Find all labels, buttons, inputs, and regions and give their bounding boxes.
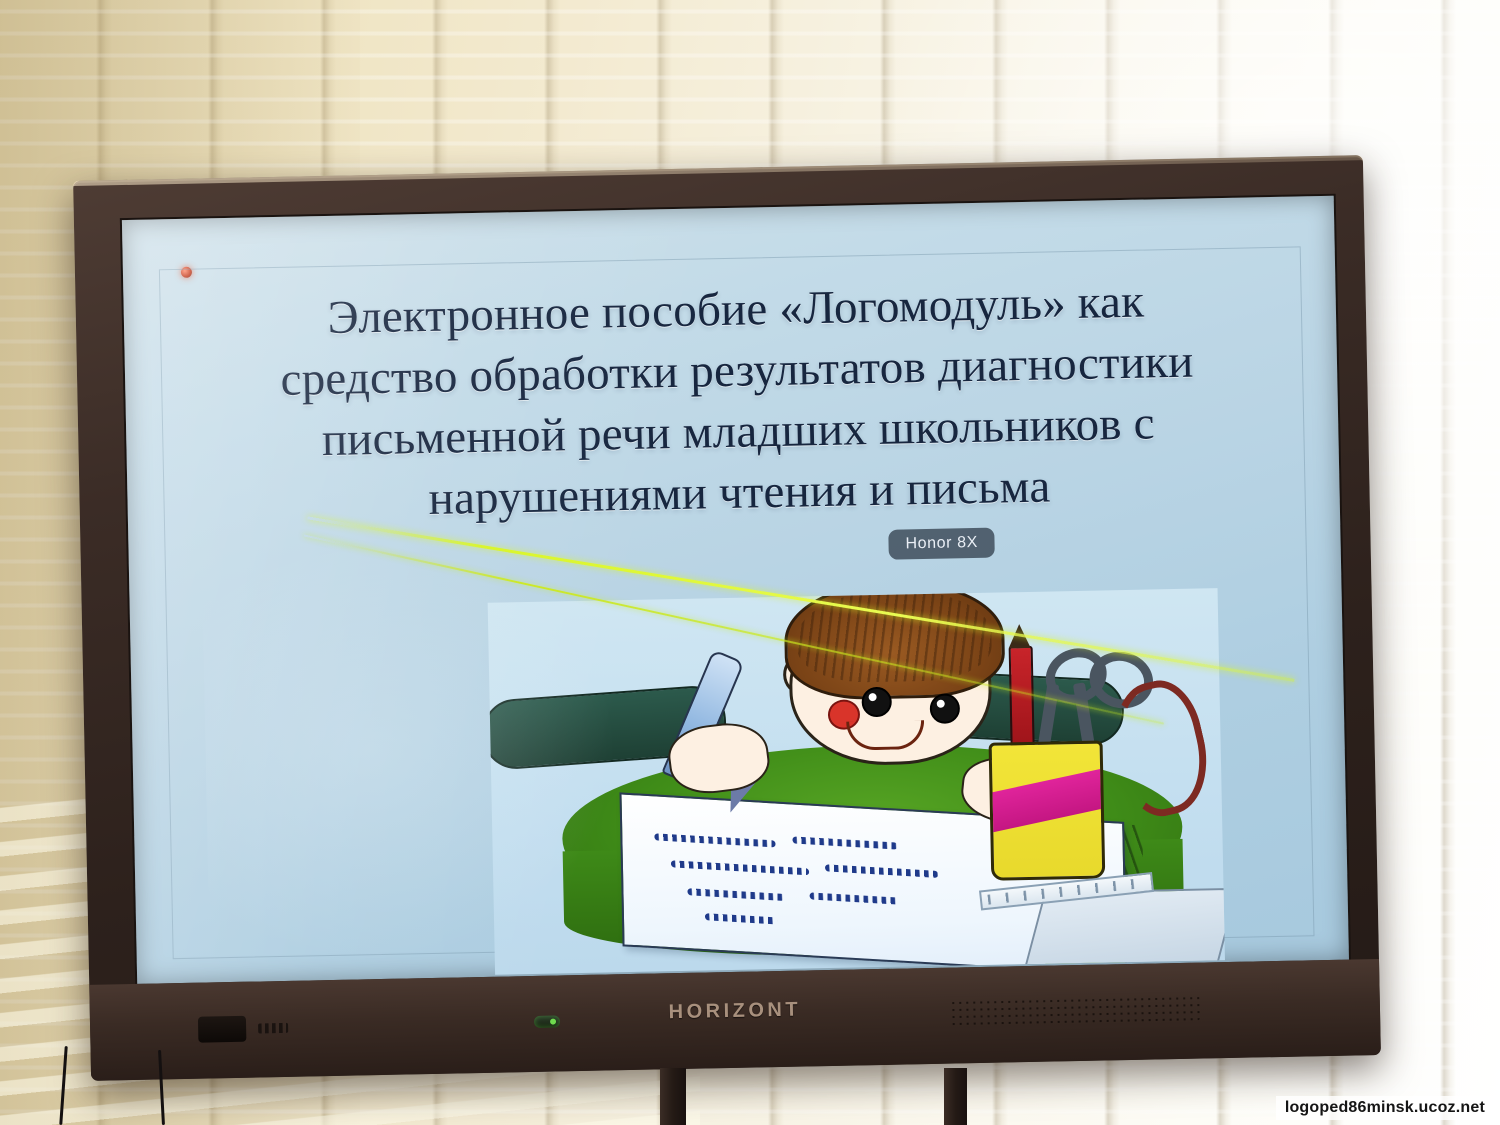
handwriting-scribbles <box>638 815 1045 959</box>
interactive-display-monitor: Электронное пособие «Логомодуль» как сре… <box>73 155 1381 1081</box>
monitor-brand-logo: HORIZONT <box>668 999 801 1025</box>
monitor-stand-leg-right <box>944 1068 967 1125</box>
red-pencil <box>1009 646 1035 754</box>
monitor-screen[interactable]: Электронное пособие «Логомодуль» как сре… <box>122 196 1349 984</box>
pencil-cup-band <box>993 769 1101 832</box>
slide-title: Электронное пособие «Логомодуль» как сре… <box>179 269 1296 536</box>
cable-plug <box>198 1016 247 1043</box>
monitor-stand-leg-left <box>660 1068 686 1125</box>
honor-camera-watermark: Honor 8X <box>888 528 995 560</box>
boy-writing-clipart <box>488 588 1225 975</box>
boy-hair <box>783 588 1005 701</box>
standby-led-indicator <box>181 267 192 278</box>
pencil-cup <box>989 740 1106 880</box>
port-markings <box>258 1023 288 1034</box>
power-led <box>534 1015 560 1028</box>
photo-scene: Электронное пособие «Логомодуль» как сре… <box>0 0 1500 1125</box>
site-watermark: logoped86minsk.ucoz.net <box>1276 1096 1494 1120</box>
speaker-grille <box>950 995 1200 1026</box>
